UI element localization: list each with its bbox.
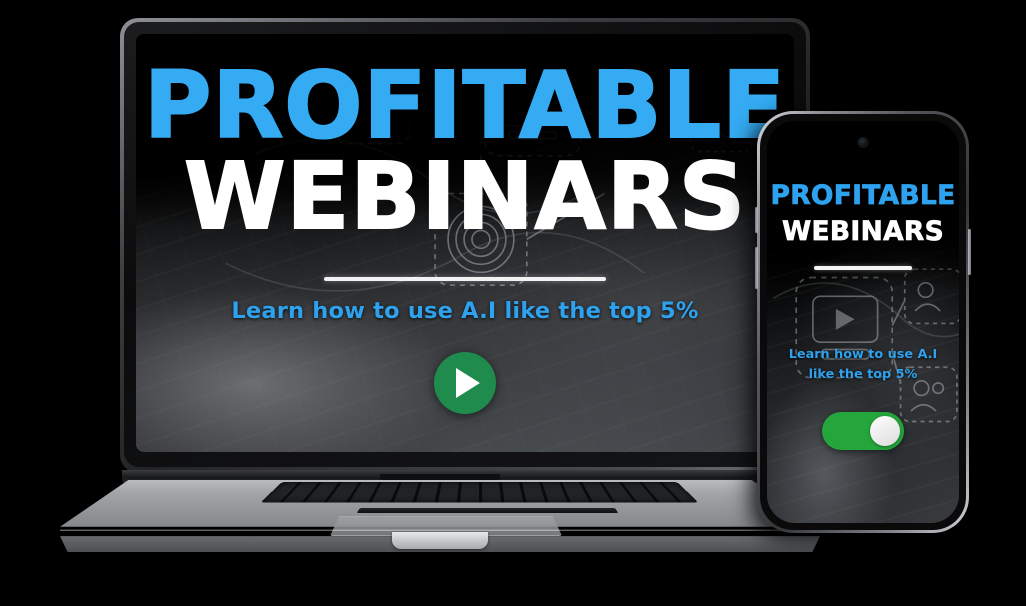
phone-device: PROFITABLE WEBINARS Learn how to use A.I… — [757, 111, 969, 533]
phone-title-line1: PROFITABLE — [770, 183, 955, 210]
laptop-keyboard-spacebar-row[interactable] — [357, 508, 619, 513]
phone-bezel: PROFITABLE WEBINARS Learn how to use A.I… — [760, 114, 966, 530]
promo-mockup-canvas: PROFITABLE WEBINARS Learn how to use A.I… — [0, 0, 1026, 606]
laptop-base — [60, 480, 820, 556]
laptop-title-line2: WEBINARS — [184, 153, 746, 240]
phone-subtitle-line1: Learn how to use A.I — [789, 346, 938, 364]
laptop-bezel: PROFITABLE WEBINARS Learn how to use A.I… — [124, 22, 806, 467]
phone-volume-buttons[interactable] — [755, 247, 758, 289]
play-button[interactable] — [434, 352, 496, 414]
phone-screen[interactable]: PROFITABLE WEBINARS Learn how to use A.I… — [767, 121, 959, 523]
phone-toggle-switch[interactable] — [822, 412, 904, 450]
phone-silent-switch[interactable] — [755, 207, 758, 233]
phone-power-button[interactable] — [968, 229, 971, 275]
laptop-divider-rule — [324, 277, 606, 281]
phone-subtitle-line2: like the top 5% — [809, 366, 918, 384]
phone-title-line2: WEBINARS — [782, 219, 944, 246]
laptop-keyboard[interactable] — [260, 482, 698, 502]
toggle-knob — [870, 416, 900, 446]
laptop-screen[interactable]: PROFITABLE WEBINARS Learn how to use A.I… — [136, 34, 794, 452]
laptop-device: PROFITABLE WEBINARS Learn how to use A.I… — [60, 18, 820, 558]
phone-divider-rule — [814, 266, 912, 270]
laptop-title-line1: PROFITABLE — [144, 62, 786, 149]
laptop-subtitle: Learn how to use A.I like the top 5% — [231, 298, 698, 324]
laptop-lid: PROFITABLE WEBINARS Learn how to use A.I… — [120, 18, 810, 473]
play-icon — [456, 368, 480, 398]
laptop-front-latch — [392, 532, 488, 549]
